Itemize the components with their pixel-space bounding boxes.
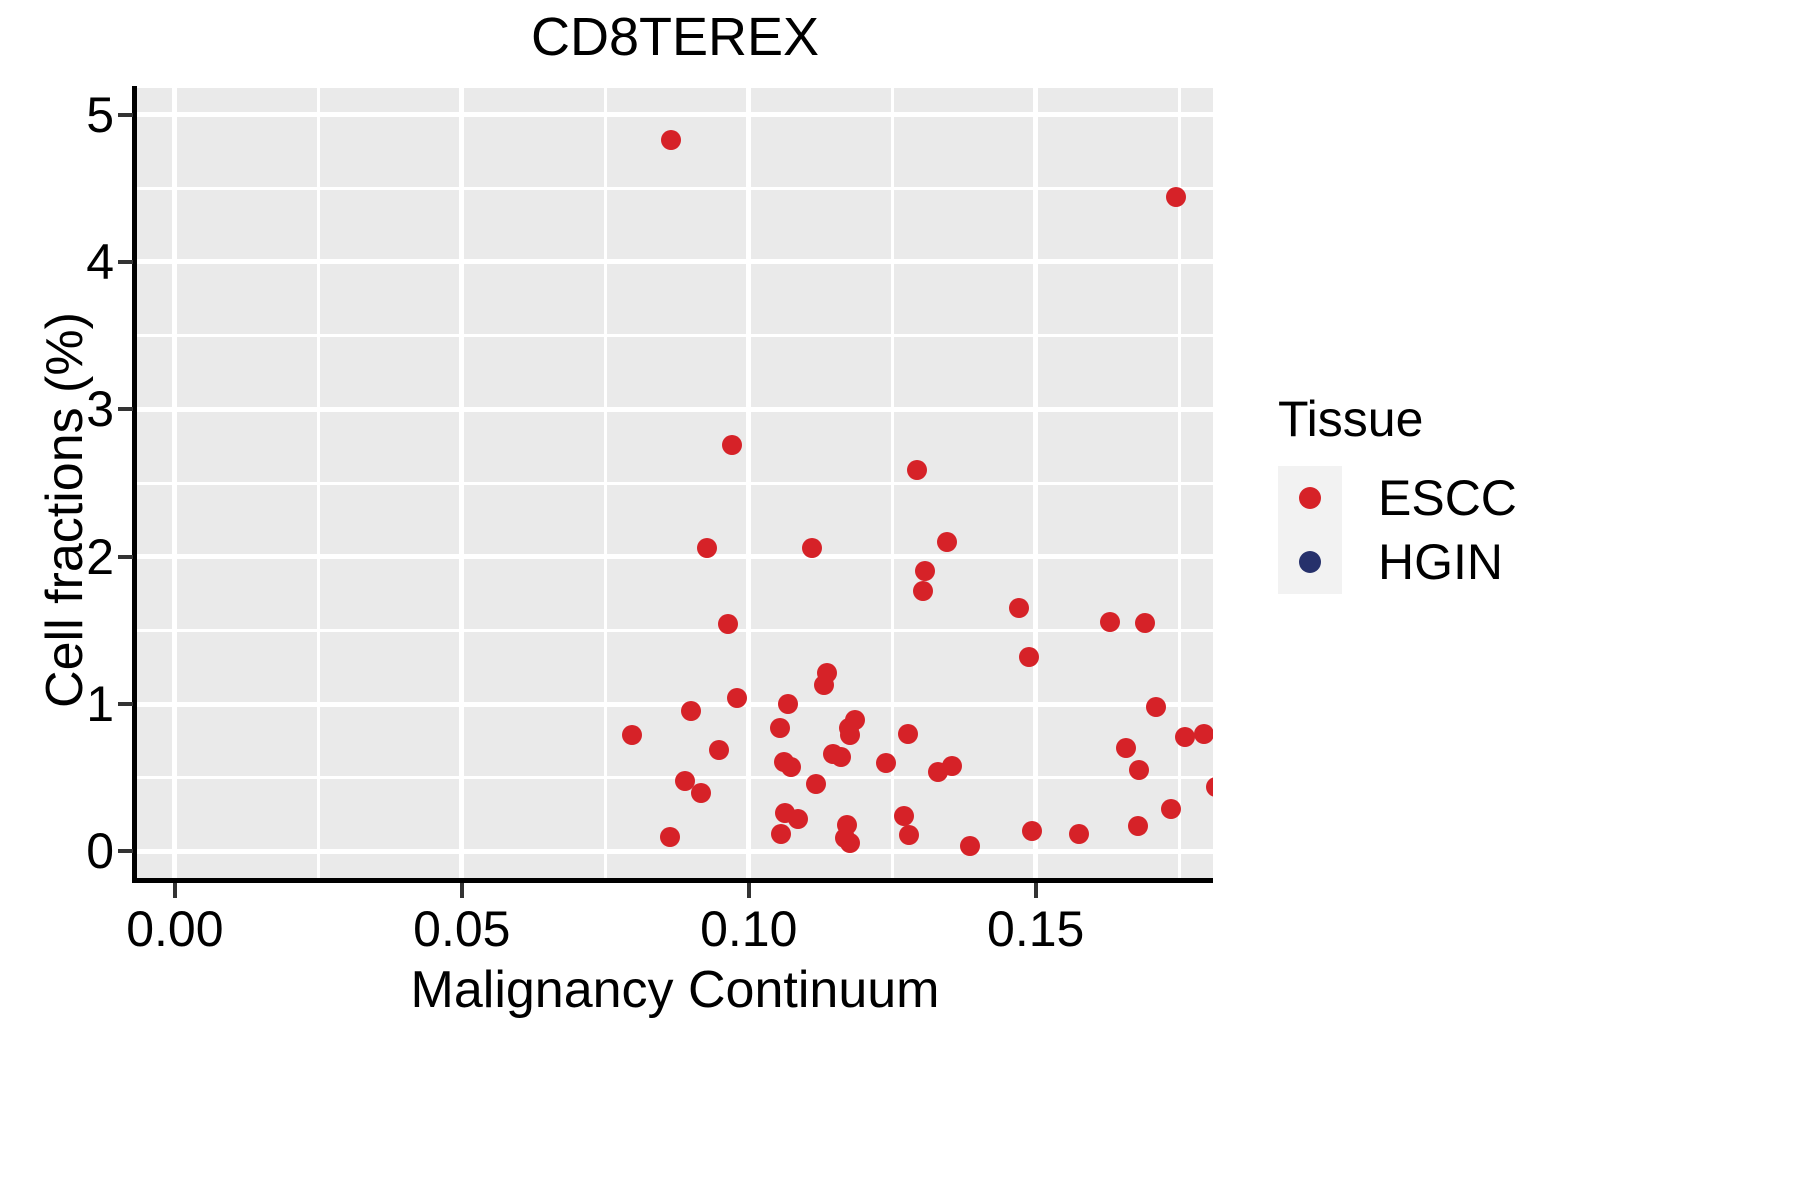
data-point	[937, 532, 957, 552]
legend-dot-icon	[1299, 487, 1321, 509]
gridline-major-horizontal	[137, 849, 1213, 854]
x-axis-tick	[173, 883, 177, 898]
y-axis-title: Cell fractions (%)	[35, 115, 95, 905]
gridline-major-horizontal	[137, 407, 1213, 412]
gridline-minor-horizontal	[137, 187, 1213, 190]
data-point	[1166, 187, 1186, 207]
gridline-minor-horizontal	[137, 482, 1213, 485]
data-point	[718, 614, 738, 634]
gridline-major-horizontal	[137, 259, 1213, 264]
data-point	[681, 701, 701, 721]
x-axis-tick	[460, 883, 464, 898]
data-point	[831, 747, 851, 767]
data-point	[802, 538, 822, 558]
y-axis-tick	[118, 113, 133, 117]
data-point	[876, 753, 896, 773]
legend-key-swatch	[1278, 466, 1342, 530]
legend: Tissue ESCCHGIN	[1278, 390, 1778, 594]
data-point	[722, 435, 742, 455]
data-point	[898, 724, 918, 744]
x-axis-tick-label: 0.15	[987, 900, 1084, 958]
gridline-major-vertical	[459, 88, 464, 878]
data-point	[907, 460, 927, 480]
gridline-major-horizontal	[137, 702, 1213, 707]
data-point	[1100, 612, 1120, 632]
data-point	[1194, 724, 1213, 744]
data-point	[913, 581, 933, 601]
legend-item-hgin[interactable]: HGIN	[1278, 530, 1778, 594]
legend-item-label: HGIN	[1378, 533, 1503, 591]
y-axis-tick	[118, 849, 133, 853]
data-point	[806, 774, 826, 794]
gridline-minor-vertical	[604, 88, 607, 878]
data-point	[697, 538, 717, 558]
y-axis-tick	[118, 407, 133, 411]
data-point	[1022, 821, 1042, 841]
chart-root: CD8TEREX 0123450.000.050.100.15 Malignan…	[0, 0, 1800, 1200]
y-axis-line	[132, 86, 137, 880]
data-point	[622, 725, 642, 745]
x-axis-tick	[747, 883, 751, 898]
legend-item-label: ESCC	[1378, 469, 1517, 527]
legend-dot-icon	[1299, 551, 1321, 573]
gridline-major-vertical	[1033, 88, 1038, 878]
data-point	[778, 694, 798, 714]
data-point	[661, 130, 681, 150]
data-point	[788, 809, 808, 829]
legend-item-escc[interactable]: ESCC	[1278, 466, 1778, 530]
data-point	[771, 824, 791, 844]
data-point	[1146, 697, 1166, 717]
data-point	[814, 675, 834, 695]
legend-items: ESCCHGIN	[1278, 466, 1778, 594]
legend-key-swatch	[1278, 530, 1342, 594]
gridline-major-vertical	[746, 88, 751, 878]
data-point	[899, 825, 919, 845]
gridline-minor-horizontal	[137, 334, 1213, 337]
x-axis-tick-label: 0.00	[126, 900, 223, 958]
data-point	[1069, 824, 1089, 844]
data-point	[727, 688, 747, 708]
data-point	[915, 561, 935, 581]
data-point	[691, 783, 711, 803]
x-axis-line	[132, 878, 1213, 883]
data-point	[1009, 598, 1029, 618]
data-point	[1175, 727, 1195, 747]
gridline-major-horizontal	[137, 554, 1213, 559]
legend-title: Tissue	[1278, 390, 1778, 448]
gridline-major-horizontal	[137, 112, 1213, 117]
gridline-minor-vertical	[317, 88, 320, 878]
x-axis-tick	[1034, 883, 1038, 898]
data-point	[1135, 613, 1155, 633]
x-axis-title: Malignancy Continuum	[137, 960, 1213, 1020]
x-axis-tick-label: 0.10	[700, 900, 797, 958]
data-point	[1116, 738, 1136, 758]
data-point	[894, 806, 914, 826]
data-point	[840, 833, 860, 853]
y-axis-tick	[118, 555, 133, 559]
plot-panel	[137, 88, 1213, 878]
data-point	[1129, 760, 1149, 780]
page-title: CD8TEREX	[137, 8, 1213, 67]
data-point	[781, 757, 801, 777]
data-point	[1128, 816, 1148, 836]
data-point	[960, 836, 980, 856]
data-point	[928, 762, 948, 782]
y-axis-tick	[118, 702, 133, 706]
y-axis-tick	[118, 260, 133, 264]
data-point	[1019, 647, 1039, 667]
data-point	[1161, 799, 1181, 819]
data-point	[770, 718, 790, 738]
data-point	[840, 725, 860, 745]
data-point	[660, 827, 680, 847]
data-point	[709, 740, 729, 760]
gridline-minor-horizontal	[137, 629, 1213, 632]
gridline-major-vertical	[172, 88, 177, 878]
x-axis-tick-label: 0.05	[413, 900, 510, 958]
data-point	[1206, 777, 1213, 797]
